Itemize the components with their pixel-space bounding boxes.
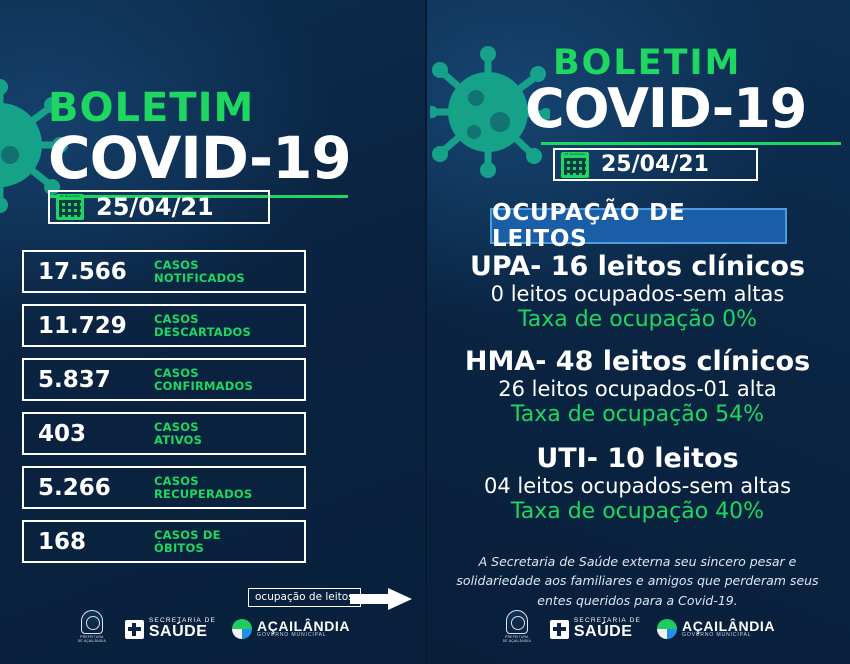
city-mark-icon xyxy=(657,619,677,639)
unit-rate: Taxa de ocupação 54% xyxy=(425,402,850,428)
unit-title: UTI- 10 leitos xyxy=(425,444,850,474)
stat-value: 5.837 xyxy=(24,367,154,393)
occupancy-banner: OCUPAÇÃO DE LEITOS xyxy=(490,208,787,244)
city-sub-text: GOVERNO MUNICIPAL xyxy=(257,633,350,638)
city-name-text: AÇAILÂNDIA xyxy=(682,619,775,633)
crest-caption: PREFEITURADE AÇAILÂNDIA xyxy=(78,636,106,644)
unit-block-uti: UTI- 10 leitos 04 leitos ocupados-sem al… xyxy=(425,444,850,526)
left-date-bar: 25 Setembro Dom 25/04/21 xyxy=(48,190,270,224)
city-gov-logo: AÇAILÂNDIA GOVERNO MUNICIPAL xyxy=(232,619,350,639)
left-header: BOLETIM COVID-19 xyxy=(48,88,378,198)
stat-label: CASOSRECUPERADOS xyxy=(154,475,252,501)
unit-block-hma: HMA- 48 leitos clínicos 26 leitos ocupad… xyxy=(425,347,850,429)
stat-row: 168 CASOS DEÓBITOS xyxy=(22,520,306,563)
stat-label: CASOSATIVOS xyxy=(154,421,202,447)
city-name-text: AÇAILÂNDIA xyxy=(257,619,350,633)
right-date-text: 25/04/21 xyxy=(601,152,709,177)
footer-logos-right: PREFEITURADE AÇAILÂNDIA SECRETARIA DE SA… xyxy=(425,610,850,648)
stat-value: 168 xyxy=(24,529,154,555)
saude-big-text: SAÚDE xyxy=(574,624,641,640)
left-date-text: 25/04/21 xyxy=(96,193,214,221)
stat-label: CASOSNOTIFICADOS xyxy=(154,259,245,285)
saude-big-text: SAÚDE xyxy=(149,624,216,640)
unit-title: UPA- 16 leitos clínicos xyxy=(425,252,850,282)
unit-block-upa: UPA- 16 leitos clínicos 0 leitos ocupado… xyxy=(425,252,850,334)
occupancy-tag: ocupação de leitos xyxy=(248,588,361,607)
city-mark-icon xyxy=(232,619,252,639)
stat-value: 17.566 xyxy=(24,259,154,285)
footer-logos-left: PREFEITURADE AÇAILÂNDIA SECRETARIA DE SA… xyxy=(0,610,425,648)
left-title-covid: COVID-19 xyxy=(48,128,378,189)
panel-left-summary: BOLETIM COVID-19 25 Setembro Dom 25/04/2… xyxy=(0,0,425,664)
stat-value: 11.729 xyxy=(24,313,154,339)
right-header: BOLETIM COVID-19 xyxy=(525,46,845,145)
health-dept-logo: SECRETARIA DE SAÚDE xyxy=(125,618,216,641)
left-stats-list: 17.566 CASOSNOTIFICADOS 11.729 CASOSDESC… xyxy=(22,250,306,574)
right-title-boletim: BOLETIM xyxy=(525,46,845,81)
stat-row: 17.566 CASOSNOTIFICADOS xyxy=(22,250,306,293)
right-title-covid: COVID-19 xyxy=(525,81,845,138)
unit-rate: Taxa de ocupação 40% xyxy=(425,499,850,525)
medical-cross-icon xyxy=(550,620,569,639)
city-crest-icon: PREFEITURADE AÇAILÂNDIA xyxy=(75,610,109,648)
unit-occupied: 0 leitos ocupados-sem altas xyxy=(425,282,850,307)
unit-occupied: 04 leitos ocupados-sem altas xyxy=(425,474,850,499)
stat-row: 5.266 CASOSRECUPERADOS xyxy=(22,466,306,509)
crest-caption: PREFEITURADE AÇAILÂNDIA xyxy=(503,636,531,644)
panel-divider xyxy=(425,0,427,664)
left-title-boletim: BOLETIM xyxy=(48,88,378,128)
calendar-icon: 25 Setembro Dom xyxy=(56,194,84,220)
stat-row: 11.729 CASOSDESCARTADOS xyxy=(22,304,306,347)
city-sub-text: GOVERNO MUNICIPAL xyxy=(682,633,775,638)
medical-cross-icon xyxy=(125,620,144,639)
city-crest-icon: PREFEITURADE AÇAILÂNDIA xyxy=(500,610,534,648)
unit-occupied: 26 leitos ocupados-01 alta xyxy=(425,377,850,402)
unit-rate: Taxa de ocupação 0% xyxy=(425,307,850,333)
arrow-right-icon xyxy=(350,588,412,610)
stat-label: CASOSCONFIRMADOS xyxy=(154,367,253,393)
unit-title: HMA- 48 leitos clínicos xyxy=(425,347,850,377)
right-title-underline xyxy=(541,142,841,145)
condolence-note: A Secretaria de Saúde externa seu sincer… xyxy=(455,552,820,610)
stat-value: 5.266 xyxy=(24,475,154,501)
panel-right-beds: BOLETIM COVID-19 25 Setembro Dom 25/04/2… xyxy=(425,0,850,664)
stat-value: 403 xyxy=(24,421,154,447)
right-date-bar: 25 Setembro Dom 25/04/21 xyxy=(553,148,758,181)
boletim-covid-poster: BOLETIM COVID-19 25 Setembro Dom 25/04/2… xyxy=(0,0,850,664)
stat-row: 5.837 CASOSCONFIRMADOS xyxy=(22,358,306,401)
stat-label: CASOS DEÓBITOS xyxy=(154,529,221,555)
occupancy-banner-text: OCUPAÇÃO DE LEITOS xyxy=(492,200,785,252)
stat-row: 403 CASOSATIVOS xyxy=(22,412,306,455)
stat-label: CASOSDESCARTADOS xyxy=(154,313,251,339)
calendar-icon: 25 Setembro Dom xyxy=(561,152,589,178)
health-dept-logo: SECRETARIA DE SAÚDE xyxy=(550,618,641,641)
city-gov-logo: AÇAILÂNDIA GOVERNO MUNICIPAL xyxy=(657,619,775,639)
